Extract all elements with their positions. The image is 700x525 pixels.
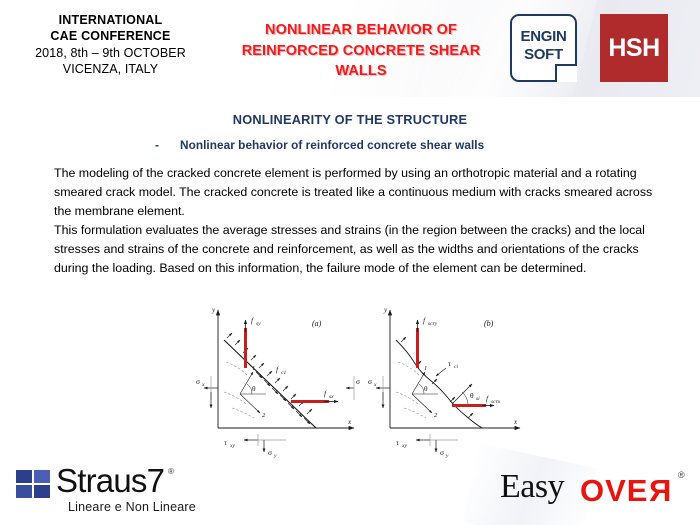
conference-name-line2: CAE CONFERENCE (8, 28, 213, 44)
fig-b-theta-si-sublabel: si (476, 396, 480, 402)
fig-b-crack-path (396, 340, 482, 428)
straus7-grid-square-3 (16, 485, 32, 498)
figure-b: x y (368, 306, 520, 459)
fig-a-sigma-x-left-label: σ (196, 377, 200, 386)
fig-b-theta-label: θ (424, 384, 428, 393)
fig-b-tau-xy-sublabel: xy (401, 443, 407, 449)
fig-b-sigma-y-sublabel: y (445, 453, 449, 459)
fig-a-fsy-sublabel: sy (256, 321, 261, 327)
section-heading: NONLINEARITY OF THE STRUCTURE (0, 112, 700, 127)
fig-a-fsy-bar (244, 328, 247, 368)
fig-b-fscry-label: f (423, 316, 426, 325)
easyover-logo: Easy OVER ® (500, 468, 690, 514)
fig-b-sigma-x-left-sublabel: x (373, 382, 377, 388)
easyover-logo-easy-text: Easy (500, 468, 564, 506)
figure-a: x y (196, 306, 360, 459)
hsh-logo: HSH (600, 14, 668, 82)
fig-b-fscrx-bar (452, 404, 486, 407)
fig-b-fscrx-label: f (486, 394, 489, 403)
fig-a-sigma-x-left-sublabel: x (201, 382, 205, 388)
fig-a-fc1-sublabel: c1 (281, 370, 286, 376)
fig-b-fscrx-sublabel: scrx (491, 399, 501, 405)
fig-a-tau-xy-sublabel: xy (229, 443, 235, 449)
shear-wall-stress-diagrams: x y (196, 300, 536, 460)
enginsoft-logo-line2: SOFT (512, 46, 575, 64)
easyover-registered-mark: ® (678, 470, 685, 480)
fig-a-fsx-bar (291, 400, 329, 403)
conference-date: 2018, 8th – 9th OCTOBER (8, 45, 213, 61)
fig-a-fc1-label: f (276, 365, 279, 374)
fig-a-axis-2-label: 2 (262, 412, 266, 419)
fig-a-fsy-label: f (251, 316, 254, 325)
fig-b-tau-ci-label: τ (448, 359, 451, 368)
conference-info-block: INTERNATIONAL CAE CONFERENCE 2018, 8th –… (8, 12, 213, 77)
body-paragraph-2: This formulation evaluates the average s… (54, 221, 654, 278)
fig-b-y-axis-label: y (383, 306, 388, 314)
body-paragraph-1: The modeling of the cracked concrete ele… (54, 164, 654, 221)
fig-a-sigma-y-sublabel: y (273, 453, 277, 459)
enginsoft-logo-text: ENGIN SOFT (512, 28, 575, 63)
straus7-logo-word: Straus7 (56, 462, 164, 500)
easyover-over-reversed-r: R (648, 473, 671, 509)
enginsoft-logo: ENGIN SOFT (510, 14, 577, 82)
fig-a-caption: (a) (312, 319, 322, 328)
slide-root: INTERNATIONAL CAE CONFERENCE 2018, 8th –… (0, 0, 700, 525)
fig-b-caption: (b) (484, 319, 494, 328)
fig-a-fsx-label: f (324, 389, 327, 398)
straus7-registered-mark: ® (168, 467, 174, 476)
figures-container: x y (196, 300, 536, 460)
fig-a-tau-xy-label: τ (224, 438, 227, 447)
conference-location: VICENZA, ITALY (8, 61, 213, 77)
hsh-logo-text: HSH (608, 34, 659, 63)
fig-b-sigma-x-left-label: σ (368, 377, 372, 386)
fig-a-sigma-y-label: σ (268, 448, 272, 457)
straus7-tagline: Lineare e Non Lineare (68, 500, 196, 514)
fig-a-axis-1-label: 1 (252, 365, 255, 372)
fig-b-theta-si-label: θ (470, 391, 474, 400)
fig-a-x-axis-label: x (347, 418, 352, 426)
subsection-heading: Nonlinear behavior of reinforced concret… (180, 138, 484, 152)
easyover-over-part1: OVE (580, 473, 648, 508)
subsection-bullet-dash: - (155, 138, 159, 152)
fig-b-fscry-sublabel: scry (428, 321, 438, 327)
fig-b-x-axis-label: x (513, 418, 518, 426)
fig-b-tau-xy-label: τ (396, 438, 399, 447)
conference-name-line1: INTERNATIONAL (8, 12, 213, 28)
fig-a-fsx-sublabel: sx (329, 394, 334, 400)
fig-b-sigma-y-label: σ (440, 448, 444, 457)
fig-a-sigma-x-right-label: σ (356, 377, 360, 386)
fig-b-axis-2-label: 2 (434, 412, 438, 419)
body-text-block: The modeling of the cracked concrete ele… (54, 164, 654, 278)
slide-main-title: NONLINEAR BEHAVIOR OF REINFORCED CONCRET… (222, 20, 500, 82)
straus7-logo-grid-icon (16, 470, 54, 502)
enginsoft-logo-line1: ENGIN (512, 28, 575, 46)
fig-b-axis-1-label: 1 (424, 365, 427, 372)
straus7-logo: Straus7 ® Lineare e Non Lineare (16, 466, 206, 516)
enginsoft-logo-notch (555, 64, 577, 82)
fig-a-theta-label: θ (252, 384, 256, 393)
easyover-logo-over-text: OVER (580, 473, 672, 509)
fig-b-tau-ci-sublabel: ci (454, 364, 458, 370)
straus7-grid-square-4 (34, 485, 50, 498)
fig-a-y-axis-label: y (211, 306, 216, 314)
straus7-grid-square-2 (34, 470, 50, 483)
fig-b-fscry-bar (416, 328, 419, 368)
straus7-grid-square-1 (16, 470, 32, 483)
